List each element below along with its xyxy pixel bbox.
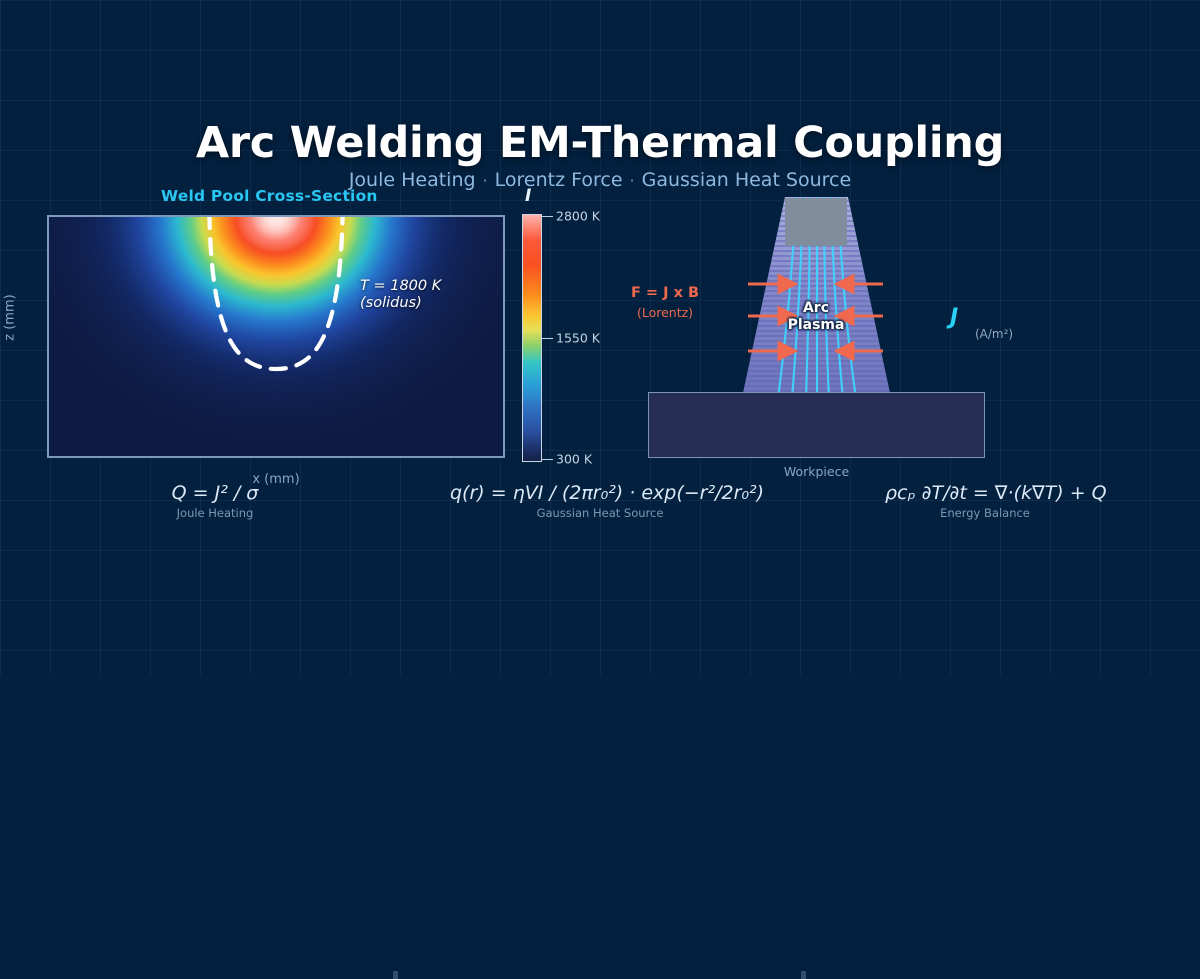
page-title: Arc Welding EM-Thermal Coupling <box>0 118 1200 168</box>
equation-strip: Q = J² / σ Joule Heating q(r) = ηVI / (2… <box>0 482 1200 524</box>
current-density-symbol: J <box>950 305 958 330</box>
colorbar-tick-label-2800: 2800 K <box>556 209 600 224</box>
lorentz-force-sublabel: (Lorentz) <box>600 305 730 320</box>
colorbar-tick-mark-300 <box>542 459 553 460</box>
weld-pool-heatmap-panel <box>47 215 505 458</box>
colorbar-tick-mark-2800 <box>542 216 553 217</box>
arc-plasma-label-line2: Plasma <box>780 317 852 334</box>
y-axis-label: z (mm) <box>3 288 18 348</box>
equation-energy-balance-caption: Energy Balance <box>885 506 1085 520</box>
equation-energy-balance: ρcₚ ∂T/∂t = ∇·(k∇T) + Q Energy Balance <box>885 482 1085 520</box>
colorbar-tick-label-300: 300 K <box>556 452 592 467</box>
colorbar-tick-mark-1550 <box>542 338 553 339</box>
electrode <box>785 198 847 246</box>
equation-separator-1 <box>393 971 398 979</box>
workpiece-block <box>648 392 985 458</box>
visualization-root: Arc Welding EM-Thermal Coupling Joule He… <box>0 0 1200 675</box>
equation-joule-heating: Q = J² / σ Joule Heating <box>115 482 315 520</box>
lorentz-force-label: F = J x B <box>600 285 730 301</box>
solidus-annotation-line2: (solidus) <box>360 295 441 312</box>
equation-gaussian-heat-source: q(r) = ηVI / (2πr₀²) · exp(−r²/2r₀²) Gau… <box>450 482 750 520</box>
equation-separator-2 <box>801 971 806 979</box>
subtitle-separator-1: · <box>476 171 495 190</box>
workpiece-label: Workpiece <box>648 464 985 479</box>
colorbar-gradient <box>522 214 542 462</box>
equation-gaussian-heat-source-expression: q(r) = ηVI / (2πr₀²) · exp(−r²/2r₀²) <box>450 482 750 504</box>
current-symbol-label: I <box>525 186 531 206</box>
solidus-annotation: T = 1800 K (solidus) <box>360 278 441 312</box>
solidus-contour-overlay <box>49 217 503 456</box>
current-density-units: (A/m²) <box>975 327 1013 341</box>
solidus-annotation-line1: T = 1800 K <box>360 278 441 295</box>
equation-joule-heating-caption: Joule Heating <box>115 506 315 520</box>
equation-energy-balance-expression: ρcₚ ∂T/∂t = ∇·(k∇T) + Q <box>885 482 1085 504</box>
arc-plasma-label-line1: Arc <box>780 300 852 317</box>
arc-plasma-label: Arc Plasma <box>780 300 852 334</box>
weld-pool-panel-label: Weld Pool Cross-Section <box>161 187 378 205</box>
equation-joule-heating-expression: Q = J² / σ <box>115 482 315 504</box>
colorbar-tick-label-1550: 1550 K <box>556 331 600 346</box>
equation-gaussian-heat-source-caption: Gaussian Heat Source <box>450 506 750 520</box>
solidus-contour-line <box>209 217 343 369</box>
